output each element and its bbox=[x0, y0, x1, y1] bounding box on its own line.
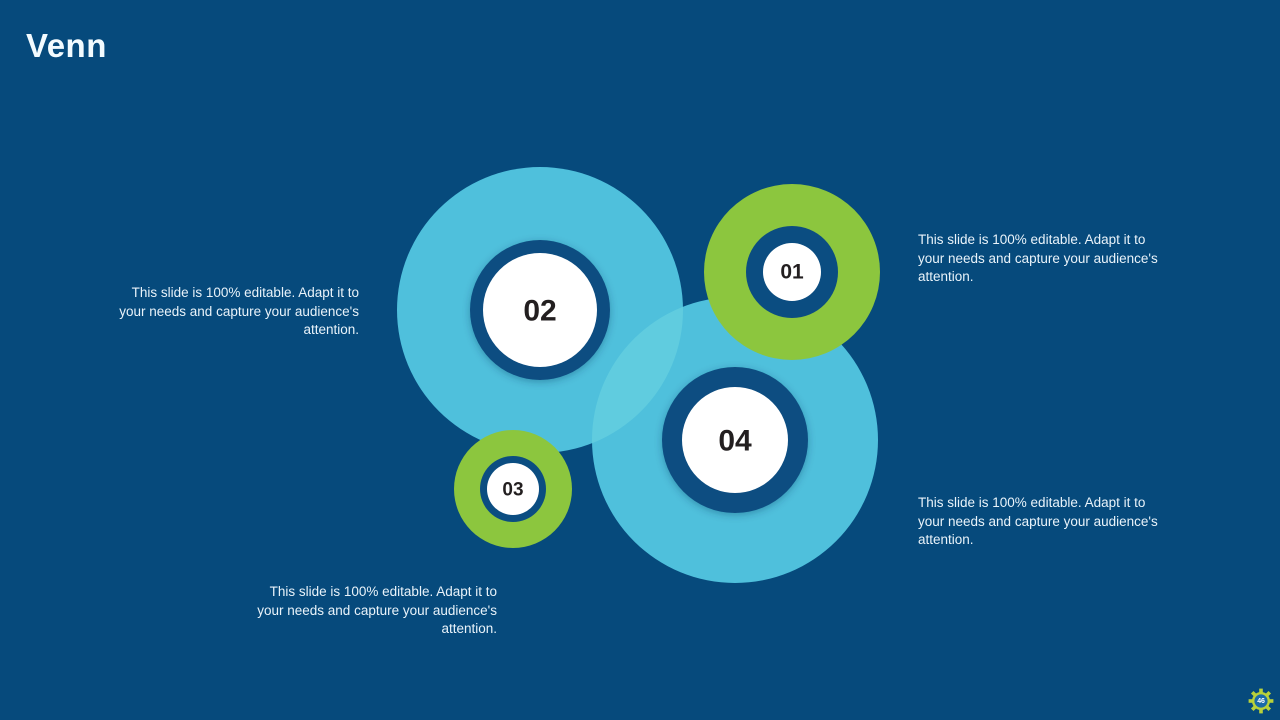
slide-canvas: Venn 01 02 bbox=[0, 0, 1280, 720]
venn-circle-03-number: 03 bbox=[502, 480, 523, 501]
description-text-02: This slide is 100% editable. Adapt it to… bbox=[104, 284, 359, 340]
venn-circle-04-number: 04 bbox=[718, 425, 752, 458]
venn-circle-01[interactable]: 01 bbox=[704, 184, 880, 360]
venn-circle-03[interactable]: 03 bbox=[454, 430, 572, 548]
venn-circle-01-number: 01 bbox=[780, 261, 804, 284]
corner-badge-label: 46 bbox=[1248, 688, 1274, 714]
venn-circle-04[interactable]: 04 bbox=[662, 367, 808, 513]
corner-badge[interactable]: 46 bbox=[1248, 688, 1274, 714]
venn-diagram: 01 02 04 03 bbox=[0, 0, 1280, 720]
venn-circle-02-number: 02 bbox=[523, 295, 556, 328]
venn-circle-02[interactable]: 02 bbox=[470, 240, 610, 380]
description-text-03: This slide is 100% editable. Adapt it to… bbox=[242, 583, 497, 639]
description-text-01: This slide is 100% editable. Adapt it to… bbox=[918, 231, 1173, 287]
description-text-04: This slide is 100% editable. Adapt it to… bbox=[918, 494, 1173, 550]
